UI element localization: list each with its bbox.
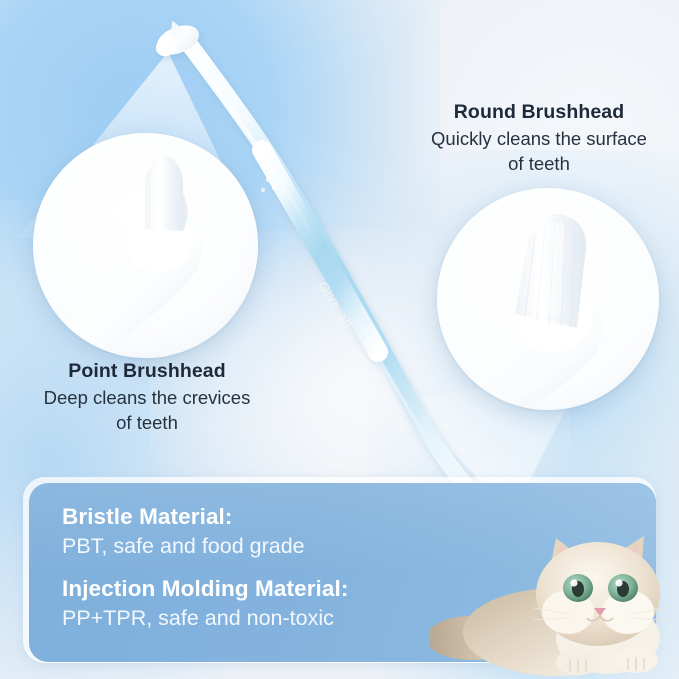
callout-point-brushhead: Point Brushhead Deep cleans the crevices… xyxy=(8,359,286,435)
callout-point-title: Point Brushhead xyxy=(8,359,286,383)
round-brushhead-closeup-circle xyxy=(437,188,659,410)
callout-point-desc-line1: Deep cleans the crevices xyxy=(8,386,286,410)
callout-round-desc-line1: Quickly cleans the surface xyxy=(400,127,678,151)
callout-round-desc-line2: of teeth xyxy=(400,152,678,176)
point-brushhead-closeup-image xyxy=(33,133,258,358)
spec-bristle-value: PBT, safe and food grade xyxy=(62,532,462,561)
infographic-canvas: Give all xyxy=(0,0,679,679)
callout-round-brushhead: Round Brushhead Quickly cleans the surfa… xyxy=(400,100,678,176)
spec-bristle-label: Bristle Material: xyxy=(62,502,462,532)
callout-round-title: Round Brushhead xyxy=(400,100,678,124)
spec-injection-label: Injection Molding Material: xyxy=(62,574,462,604)
spec-injection-material: Injection Molding Material: PP+TPR, safe… xyxy=(62,574,462,632)
point-brushhead-closeup-circle xyxy=(33,133,258,358)
spec-injection-value: PP+TPR, safe and non-toxic xyxy=(62,604,462,633)
callout-point-desc-line2: of teeth xyxy=(8,411,286,435)
spec-bristle-material: Bristle Material: PBT, safe and food gra… xyxy=(62,502,462,560)
panel-spec-list: Bristle Material: PBT, safe and food gra… xyxy=(62,502,462,633)
cat-photo xyxy=(430,520,679,679)
round-brushhead-closeup-image xyxy=(437,188,659,410)
